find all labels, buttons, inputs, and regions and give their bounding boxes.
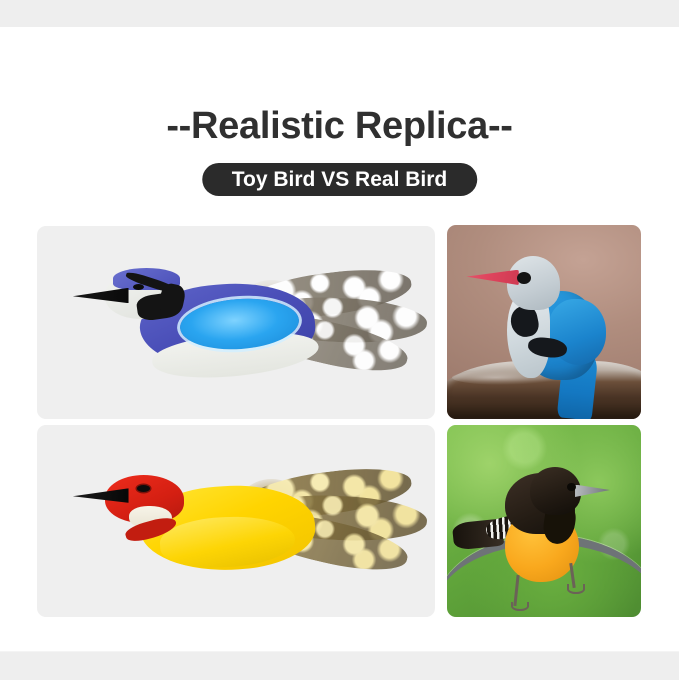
toy-beak bbox=[73, 288, 129, 303]
kingfisher-photo-content bbox=[447, 225, 641, 419]
yellow-toy-illustration bbox=[37, 425, 435, 617]
bird-eye bbox=[567, 483, 576, 491]
toy-eye bbox=[137, 485, 151, 492]
top-background-band bbox=[0, 0, 679, 28]
toy-bird-panel-yellow bbox=[37, 425, 435, 617]
content-stage: --Realistic Replica-- Toy Bird VS Real B… bbox=[0, 27, 679, 651]
bird-foot bbox=[567, 584, 585, 594]
real-bird-photo-oriole bbox=[447, 425, 641, 617]
blue-jay-toy-illustration bbox=[37, 226, 435, 419]
toy-bird-panel-blue-jay bbox=[37, 226, 435, 419]
comparison-badge: Toy Bird VS Real Bird bbox=[202, 163, 478, 196]
bird-head bbox=[530, 467, 580, 515]
oriole-photo-content bbox=[447, 425, 641, 617]
bottom-background-band bbox=[0, 651, 679, 680]
toy-beak bbox=[73, 488, 129, 502]
real-bird-photo-kingfisher bbox=[447, 225, 641, 419]
page-title: --Realistic Replica-- bbox=[0, 105, 679, 148]
